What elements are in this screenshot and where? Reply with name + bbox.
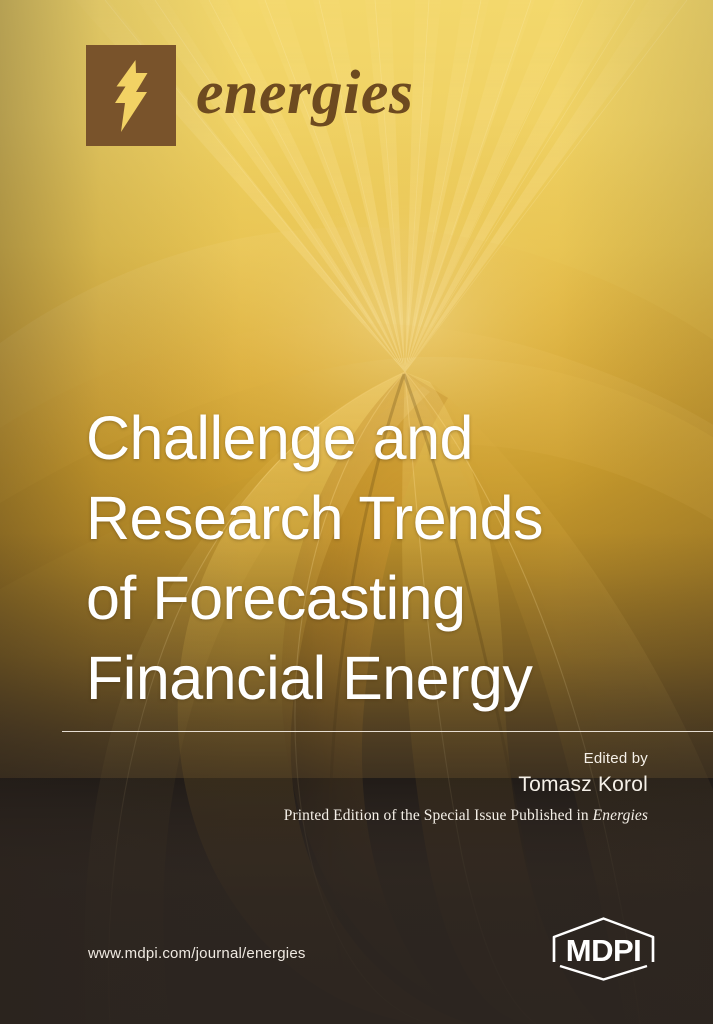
title-line-2: Research Trends [86, 478, 646, 558]
book-cover: energies Challenge and Research Trends o… [0, 0, 713, 1024]
title-line-4: Financial Energy [86, 638, 646, 718]
page-title: Challenge and Research Trends of Forecas… [86, 398, 646, 718]
journal-url[interactable]: www.mdpi.com/journal/energies [88, 945, 306, 962]
journal-wordmark: energies [196, 62, 414, 130]
mdpi-hexagon-logo: MDPI [546, 916, 661, 982]
editor-name: Tomasz Korol [284, 770, 648, 800]
journal-masthead: energies [86, 45, 414, 146]
title-line-1: Challenge and [86, 398, 646, 478]
energies-logo-tile [86, 45, 176, 146]
edited-by-label: Edited by [284, 748, 648, 769]
svg-text:MDPI: MDPI [566, 933, 642, 968]
printed-edition-journal: Energies [593, 807, 648, 824]
lightning-bolt-icon [109, 59, 153, 133]
credits-block: Edited by Tomasz Korol Printed Edition o… [284, 748, 648, 827]
title-divider [62, 731, 713, 732]
printed-edition-note: Printed Edition of the Special Issue Pub… [284, 805, 648, 827]
printed-edition-prefix: Printed Edition of the Special Issue Pub… [284, 807, 593, 824]
title-line-3: of Forecasting [86, 558, 646, 638]
